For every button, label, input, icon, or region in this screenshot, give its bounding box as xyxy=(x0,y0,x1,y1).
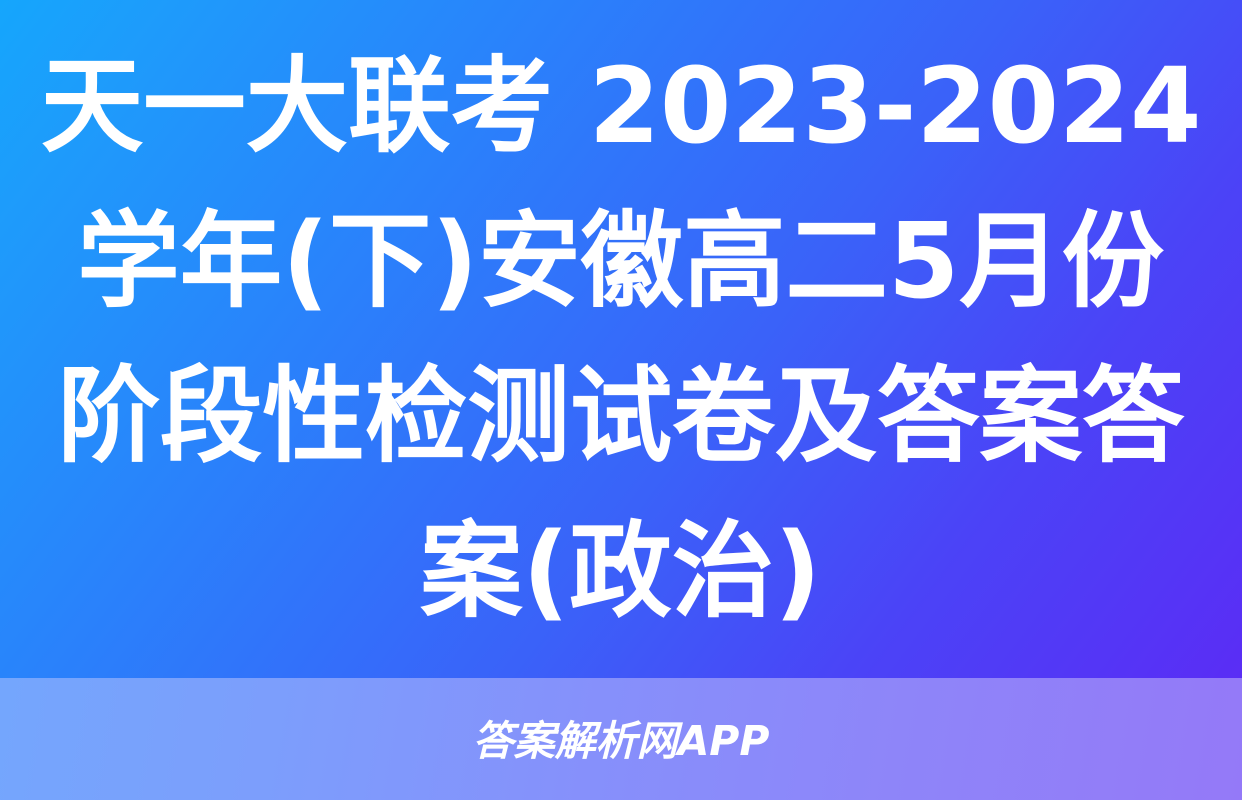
poster-title: 天一大联考 2023-2024 学年(下)安徽高二5月份 阶段性检测试卷及答案答… xyxy=(0,0,1242,678)
title-line-1: 天一大联考 2023-2024 xyxy=(41,29,1202,184)
title-line-4: 案(政治) xyxy=(421,494,822,649)
title-line-3: 阶段性检测试卷及答案答 xyxy=(58,339,1185,494)
footer-brand-band: 答案解析网APP xyxy=(0,678,1242,800)
poster-card: 天一大联考 2023-2024 学年(下)安徽高二5月份 阶段性检测试卷及答案答… xyxy=(0,0,1242,800)
title-line-2: 学年(下)安徽高二5月份 xyxy=(78,184,1165,339)
app-brand-label: 答案解析网APP xyxy=(473,707,770,767)
